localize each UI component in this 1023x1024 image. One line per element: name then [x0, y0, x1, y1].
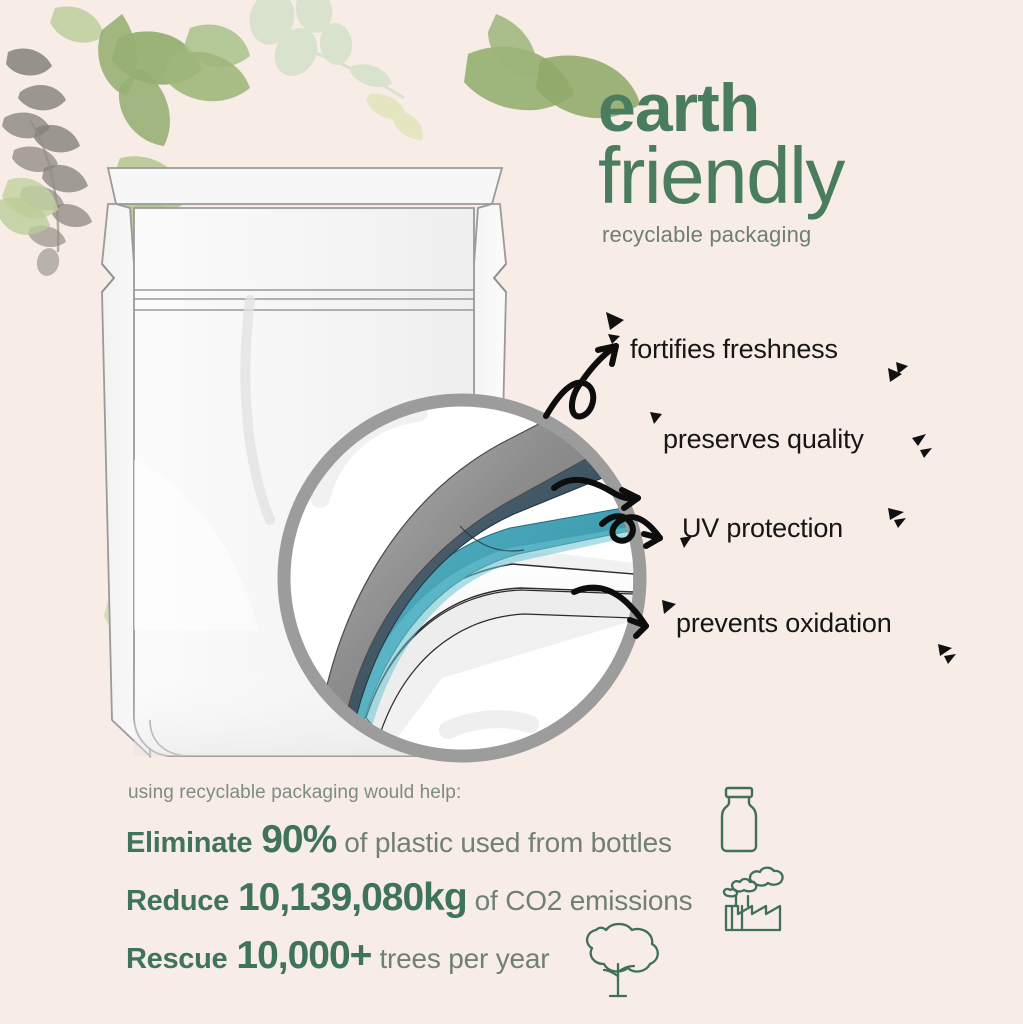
feature-label-preserves-quality: preserves quality [663, 424, 864, 455]
accent-tick [944, 654, 956, 664]
stat-number: 10,139,080kg [238, 876, 467, 920]
feature-label-fortifies-freshness: fortifies freshness [630, 334, 838, 365]
stat-tail: of CO2 emissions [475, 885, 693, 917]
headline-block: earth friendly recyclable packaging [598, 76, 1018, 248]
stat-verb: Rescue [126, 943, 227, 976]
stat-tail: trees per year [379, 943, 549, 975]
feature-label-uv-protection: UV protection [682, 513, 843, 544]
tree-icon [572, 918, 664, 1002]
infographic-poster: earth friendly recyclable packaging fort… [0, 0, 1023, 1024]
accent-tick [888, 368, 902, 382]
accent-tick [662, 600, 676, 614]
accent-tick [894, 518, 906, 528]
accent-tick [608, 334, 620, 344]
stat-number: 90% [261, 818, 336, 862]
stat-number: 10,000+ [236, 934, 371, 978]
feature-label-prevents-oxidation: prevents oxidation [676, 608, 892, 639]
stats-intro: using recyclable packaging would help: [128, 782, 886, 804]
stat-verb: Reduce [126, 885, 229, 918]
stat-verb: Eliminate [126, 827, 252, 860]
stat-tail: of plastic used from bottles [344, 827, 671, 859]
accent-tick [888, 508, 904, 520]
headline-line-2: friendly [598, 137, 1018, 215]
accent-tick [912, 434, 926, 446]
accent-tick [606, 312, 624, 330]
eucalyptus-sprig-right [243, 0, 422, 140]
accent-tick [920, 448, 932, 458]
headline-subtitle: recyclable packaging [602, 222, 1018, 248]
accent-tick [938, 644, 952, 656]
stat-row: Rescue 10,000+ trees per year [126, 934, 886, 992]
magnified-film-layers [262, 378, 662, 778]
accent-tick [896, 362, 908, 374]
bottle-icon [712, 784, 766, 856]
factory-icon [720, 862, 786, 934]
dark-olive-sprig [2, 48, 92, 278]
